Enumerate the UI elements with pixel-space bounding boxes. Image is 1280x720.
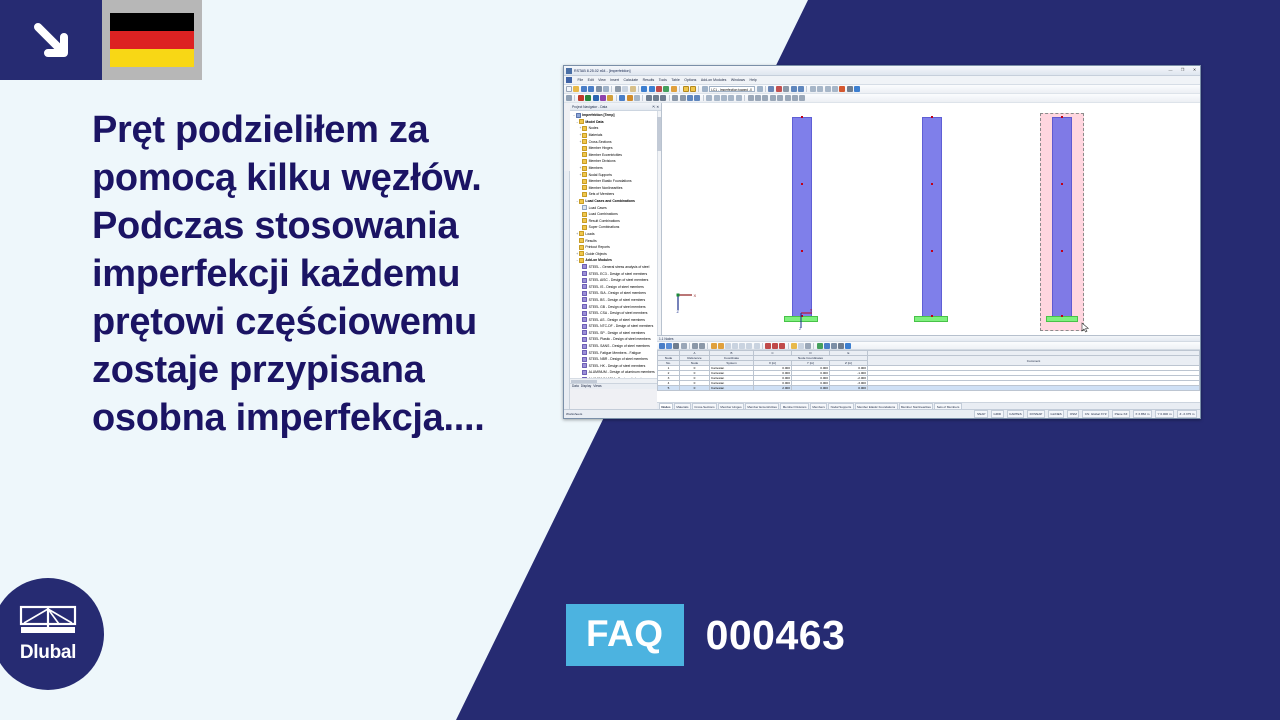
navigator-tree-label: STEEL EC3 - Design of steel members (589, 272, 648, 276)
close-button[interactable]: ✕ (1191, 67, 1198, 73)
navigator-tree-item[interactable]: +Loads (571, 231, 661, 238)
load-case-prev-icon[interactable] (702, 86, 708, 92)
tree-folder-icon (582, 179, 587, 184)
navigator-tree-item[interactable]: STEEL SANS - Design of steel members (571, 343, 661, 350)
menu-item-insert[interactable]: Insert (610, 78, 619, 82)
toolbar-separator (679, 86, 680, 92)
help-icon[interactable] (854, 86, 860, 92)
dlubal-bridge-icon (19, 605, 77, 639)
navigator-tree-label: Member Hinges (589, 146, 613, 150)
filter-icon[interactable] (770, 95, 776, 101)
navigator-tree-item[interactable]: Super Combinations (571, 224, 661, 231)
navigator-tree-label: Nodes (589, 126, 599, 130)
axis-triad-icon: X Z (676, 291, 698, 313)
dimension-icon[interactable] (680, 95, 686, 101)
window-title-bar[interactable]: RSTAB 8.25.02 x64 - [Imperfektion] — ❐ ✕ (564, 66, 1200, 76)
snap-icon[interactable] (687, 95, 693, 101)
navigator-tree-label: STEEL AS - Design of steel members (589, 318, 645, 322)
navigator-header: Project Navigator - Data ⇱ ✕ (570, 103, 661, 111)
table-font-icon[interactable] (673, 343, 679, 349)
status-bar: Worksheets SNAP GRID CARTES DXSNAP GLINE… (564, 409, 1200, 418)
node-marker (931, 250, 933, 252)
navigator-tree-item[interactable]: +Members (571, 165, 661, 172)
table-delete-row-icon[interactable] (699, 343, 705, 349)
toolbar-separator (765, 86, 766, 92)
tree-mod-icon (582, 264, 587, 269)
tree-folder-icon (582, 218, 587, 223)
navigator-tree-item[interactable]: STEEL CSA - Design of steel members (571, 310, 661, 317)
navigator-tree-item[interactable]: STEEL AISC - Design of steel members (571, 277, 661, 284)
navigator-tree-item[interactable]: STEEL Plastic - Design of steel members (571, 336, 661, 343)
view-top-icon[interactable] (817, 86, 823, 92)
navigator-tab-data[interactable]: Data (572, 384, 579, 388)
mouse-cursor-icon (1081, 322, 1090, 333)
navigator-tree-item[interactable]: STEEL NBR - Design of steel members (571, 356, 661, 363)
surface-insert-icon[interactable] (600, 95, 606, 101)
toolbar-primary[interactable]: LC1 - Imperfection toward -X (564, 85, 1200, 94)
cell-node-no[interactable]: 5 (658, 386, 680, 391)
toolbar-separator (813, 343, 814, 349)
navigator-title: Project Navigator - Data (572, 103, 607, 110)
table-filter-icon[interactable] (805, 343, 811, 349)
navigator-tree-item[interactable]: STEEL - General stress analysis of steel (571, 264, 661, 271)
member-insert-icon[interactable] (593, 95, 599, 101)
top-left-badge (0, 0, 202, 80)
navigator-tree-label: STEEL SP - Design of steel members (589, 331, 646, 335)
navigator-tree-item[interactable]: -Model Data (571, 119, 661, 126)
faq-number: 000463 (706, 613, 846, 657)
column-1-member[interactable] (792, 117, 812, 317)
navigator-tab-views[interactable]: Views (593, 384, 601, 388)
page-title: Pręt podzieliłem za pomocą kilku węzłów.… (92, 106, 562, 442)
navigator-tree-item[interactable]: Load Cases (571, 204, 661, 211)
faq-badge: FAQ (566, 604, 684, 666)
navigator-tree-label: STEEL IS - Design of steel members (589, 285, 644, 289)
svg-text:Z: Z (799, 327, 802, 330)
hinge-insert-icon[interactable] (627, 95, 633, 101)
grid-icon[interactable] (690, 86, 696, 92)
menu-item-options[interactable]: Options (684, 78, 696, 82)
tree-folder-icon (582, 126, 587, 131)
navigator-tree-label: Results (585, 239, 596, 243)
navigator-scroll-thumb[interactable] (657, 117, 661, 151)
status-plane: Plane XZ (1112, 410, 1130, 418)
toolbar-secondary[interactable] (564, 94, 1200, 103)
menu-app-icon (566, 77, 572, 83)
lock-icon[interactable] (799, 95, 805, 101)
copy-icon[interactable] (622, 86, 628, 92)
app-icon (566, 68, 572, 74)
toolbar-separator (744, 95, 745, 101)
toolbar-separator (698, 86, 699, 92)
status-y: Y 0.000 m (1155, 410, 1174, 418)
status-glines[interactable]: GLINES (1048, 410, 1064, 418)
table-list-icon[interactable] (798, 343, 804, 349)
status-cartes[interactable]: CARTES (1007, 410, 1025, 418)
table-toolbar[interactable] (657, 342, 1200, 350)
navigator-tree-item[interactable]: STEEL IS - Design of steel members (571, 283, 661, 290)
navigator-tree-label: Sets of Members (589, 192, 615, 196)
toolbar-separator (788, 343, 789, 349)
navigator-tree-item[interactable]: STEEL AS - Design of steel members (571, 316, 661, 323)
window-controls[interactable]: — ❐ ✕ (1167, 67, 1198, 73)
navigator-tree-item[interactable]: STEEL BS - Design of steel members (571, 297, 661, 304)
navigator-tree-label: STEEL AISC - Design of steel members (589, 278, 649, 282)
node-insert-icon[interactable] (578, 95, 584, 101)
navigator-tree-item[interactable]: +Materials (571, 132, 661, 139)
navigator-tree-label: Member Eccentricities (589, 153, 622, 157)
navigator-tree-item[interactable]: STEEL GB - Design of steel members (571, 303, 661, 310)
table-paste-icon[interactable] (732, 343, 738, 349)
display-numbers-icon[interactable] (736, 95, 742, 101)
navigator-tree-label: STEEL Plastic - Design of steel members (589, 337, 651, 341)
render-icon[interactable] (671, 86, 677, 92)
column-2-member[interactable] (922, 117, 942, 317)
cell-x[interactable]: 2.000 (754, 386, 792, 391)
zoom-window-icon[interactable] (798, 86, 804, 92)
menu-item-results[interactable]: Results (643, 78, 655, 82)
cell-coordinate-system[interactable]: Cartesian (710, 386, 754, 391)
tree-folder-icon (582, 159, 587, 164)
tree-folder-icon (582, 225, 587, 230)
navigator-tree-item[interactable]: Printout Reports (571, 244, 661, 251)
view-side-icon[interactable] (825, 86, 831, 92)
tree-folder-icon (579, 251, 584, 256)
table-print-icon[interactable] (831, 343, 837, 349)
maximize-button[interactable]: ❐ (1179, 67, 1186, 73)
tree-mod-icon (582, 337, 587, 342)
tree-folder-icon (582, 133, 587, 138)
calculate-icon[interactable] (656, 86, 662, 92)
navigator-tree-item[interactable]: STEEL SIA - Design of steel members (571, 290, 661, 297)
status-grid[interactable]: GRID (991, 410, 1004, 418)
tree-mod-icon (582, 311, 587, 316)
navigator-tree-label: Guide Objects (585, 252, 607, 256)
table-delete-icon[interactable] (754, 343, 760, 349)
view-iso-icon[interactable] (832, 86, 838, 92)
redo-icon[interactable] (649, 86, 655, 92)
section-icon[interactable] (755, 95, 761, 101)
node-marker (801, 250, 803, 252)
faq-footer: FAQ 000463 (566, 604, 845, 666)
navigator-tree-item[interactable]: STEEL HK - Design of steel members (571, 363, 661, 370)
table-tabs[interactable]: NodesMaterialsCross-SectionsMember Hinge… (657, 402, 1200, 409)
column-2-support[interactable] (914, 316, 948, 322)
navigator-tree-label: STEEL - General stress analysis of steel (589, 265, 650, 269)
colors-icon[interactable] (839, 86, 845, 92)
navigator-tree-label: Printout Reports (585, 245, 610, 249)
navigator-tree-label: STEEL BS - Design of steel members (589, 298, 646, 302)
display-supports-icon[interactable] (721, 95, 727, 101)
rstab-application-window[interactable]: RSTAB 8.25.02 x64 - [Imperfektion] — ❐ ✕… (563, 65, 1201, 419)
tree-mod-icon (582, 291, 587, 296)
table-icon[interactable] (683, 86, 689, 92)
eccentricity-icon[interactable] (634, 95, 640, 101)
view-front-icon[interactable] (810, 86, 816, 92)
results-icon[interactable] (663, 86, 669, 92)
tree-mod-icon (582, 330, 587, 335)
table-undo-icon[interactable] (711, 343, 717, 349)
menu-item-view[interactable]: View (598, 78, 606, 82)
table-panel[interactable]: 1.1 Nodes (657, 335, 1200, 402)
navigator-tree-item[interactable]: +Cross-Sections (571, 138, 661, 145)
undo-icon[interactable] (641, 86, 647, 92)
display-loads-icon[interactable] (728, 95, 734, 101)
navigator-tree-label: STEEL SIA - Design of steel members (589, 291, 646, 295)
navigator-tree-label: Cross-Sections (589, 140, 612, 144)
menu-item-calculate[interactable]: Calculate (623, 78, 638, 82)
save-all-icon[interactable] (588, 86, 594, 92)
tree-folder-icon (579, 258, 584, 263)
status-cells[interactable]: SNAP GRID CARTES DXSNAP GLINES OSM CS: G… (974, 410, 1200, 418)
project-navigator[interactable]: Project Navigator - Data ⇱ ✕ -Imperfekti… (570, 103, 662, 389)
navigator-header-buttons[interactable]: ⇱ ✕ (653, 103, 659, 110)
node-marker (1061, 250, 1063, 252)
table-export-icon[interactable] (824, 343, 830, 349)
toolbar-separator (642, 95, 643, 101)
tree-folder-icon (582, 185, 587, 190)
navigator-tree-label: STEEL NBR - Design of steel members (589, 357, 648, 361)
navigator-tabs[interactable]: Data Display Views (570, 383, 661, 389)
measure-icon[interactable] (672, 95, 678, 101)
toolbar-separator (574, 95, 575, 101)
tree-mod-icon (582, 370, 587, 375)
menu-item-file[interactable]: File (578, 78, 584, 82)
navigator-tree-label: STEEL Fatigue Members - Fatigue (589, 351, 641, 355)
status-dxsnap[interactable]: DXSNAP (1027, 410, 1045, 418)
navigator-tree-label: STEEL GB - Design of steel members (589, 305, 646, 309)
node-marker (1061, 116, 1063, 118)
navigator-tree-item[interactable]: STEEL SP - Design of steel members (571, 330, 661, 337)
navigator-tree-item[interactable]: -Add-on Modules (571, 257, 661, 264)
menu-item-tools[interactable]: Tools (659, 78, 667, 82)
supports-icon[interactable] (768, 86, 774, 92)
paste-icon[interactable] (630, 86, 636, 92)
tree-mod-icon (582, 324, 587, 329)
node-marker (1061, 183, 1063, 185)
table-calc-icon[interactable] (817, 343, 823, 349)
table-edit-icon[interactable] (666, 343, 672, 349)
status-x: X 3.852 m (1133, 410, 1152, 418)
navigator-tree-label: Materials (589, 133, 603, 137)
table-formula-icon[interactable] (838, 343, 844, 349)
navigator-tree-item[interactable]: Sets of Members (571, 191, 661, 198)
rotate-icon[interactable] (653, 95, 659, 101)
select-arrow-icon[interactable] (566, 95, 572, 101)
node-marker (931, 315, 933, 317)
tree-folder-icon (582, 212, 587, 217)
tree-folder-icon (579, 199, 584, 204)
cell-reference-node[interactable]: 0 (680, 386, 710, 391)
solid-insert-icon[interactable] (607, 95, 613, 101)
tree-folder-icon (582, 166, 587, 171)
layer-icon[interactable] (785, 95, 791, 101)
clipping-icon[interactable] (762, 95, 768, 101)
navigator-tree-label: Imperfektion [Temp] (582, 113, 614, 117)
tree-mod-icon (582, 350, 587, 355)
tree-mod-icon (582, 363, 587, 368)
display-members-icon[interactable] (714, 95, 720, 101)
header-comment: Comment (868, 356, 1200, 366)
navigator-tree-label: Load Combinations (589, 212, 618, 216)
navigator-tree-item[interactable]: -Load Cases and Combinations (571, 198, 661, 205)
tree-mod-icon (582, 271, 587, 276)
load-case-selector[interactable]: LC1 - Imperfection toward -X (709, 86, 755, 92)
node-marker (931, 183, 933, 185)
navigator-tree-label: STEEL HK - Design of steel members (589, 364, 646, 368)
print-preview-icon[interactable] (603, 86, 609, 92)
nodes-table-body[interactable]: 10Cartesian0.0000.0000.00020Cartesian0.0… (658, 366, 1200, 391)
open-file-icon[interactable] (573, 86, 579, 92)
cell-z[interactable]: 0.000 (830, 386, 868, 391)
navigator-tree-item[interactable]: +Nodes (571, 125, 661, 132)
table-align-icon[interactable] (681, 343, 687, 349)
navigator-tree-item[interactable]: -Imperfektion [Temp] (571, 112, 661, 119)
menu-item-addon-modules[interactable]: Add-on Modules (701, 78, 727, 82)
navigator-tree-item[interactable]: Result Combinations (571, 218, 661, 225)
menu-item-edit[interactable]: Edit (588, 78, 594, 82)
tree-mod-icon (582, 357, 587, 362)
node-marker (931, 116, 933, 118)
save-icon[interactable] (581, 86, 587, 92)
local-axis-icon: X Z (791, 306, 813, 330)
navigator-tree-item[interactable]: Member Elastic Foundations (571, 178, 661, 185)
display-nodes-icon[interactable] (706, 95, 712, 101)
navigator-tree-item[interactable]: STEEL EC3 - Design of steel members (571, 270, 661, 277)
toolbar-separator (806, 86, 807, 92)
navigator-tree-label: Result Combinations (589, 219, 620, 223)
tree-mod-icon (582, 304, 587, 309)
node-marker (801, 116, 803, 118)
toolbar-separator (638, 86, 639, 92)
node-marker (801, 183, 803, 185)
navigator-tree-label: Member Nonlinearities (589, 186, 623, 190)
tree-folder-icon (582, 146, 587, 151)
navigator-tree-label: STEEL SANS - Design of steel members (589, 344, 650, 348)
navigator-tree-label: Nodal Supports (589, 173, 612, 177)
table-copy-icon[interactable] (725, 343, 731, 349)
navigator-hscrollbar[interactable] (570, 378, 661, 382)
navigator-tree[interactable]: -Imperfektion [Temp]-Model Data+Nodes+Ma… (570, 111, 661, 378)
zoom-all-icon[interactable] (791, 86, 797, 92)
line-insert-icon[interactable] (585, 95, 591, 101)
loads-icon[interactable] (776, 86, 782, 92)
navigator-tree-item[interactable]: STEEL Fatigue Members - Fatigue (571, 349, 661, 356)
new-file-icon[interactable] (566, 86, 572, 92)
column-3-member[interactable] (1052, 117, 1072, 317)
navigator-tree-item[interactable]: +Nodal Supports (571, 171, 661, 178)
tree-folder-icon (579, 238, 584, 243)
tree-folder-icon (582, 192, 587, 197)
navigator-tree-label: Loads (585, 232, 594, 236)
print-icon[interactable] (596, 86, 602, 92)
group-icon[interactable] (777, 95, 783, 101)
toolbar-separator (689, 343, 690, 349)
tree-folder-icon (582, 152, 587, 157)
settings-icon[interactable] (847, 86, 853, 92)
table-first-icon[interactable] (765, 343, 771, 349)
navigator-tree-item[interactable]: +Guide Objects (571, 250, 661, 257)
navigator-tab-display[interactable]: Display (581, 384, 591, 388)
cell-y[interactable]: 0.000 (792, 386, 830, 391)
menu-bar[interactable]: File Edit View Insert Calculate Results … (564, 76, 1200, 85)
nodes-table[interactable]: A B C D E Node Reference Coordinate Node… (657, 350, 1200, 391)
navigator-tree-item[interactable]: Member Hinges (571, 145, 661, 152)
numbering-icon[interactable] (783, 86, 789, 92)
table-view-icon[interactable] (791, 343, 797, 349)
navigator-tree-item[interactable]: ALUMINUM - Design of aluminum members (571, 369, 661, 376)
tree-folder-icon (582, 172, 587, 177)
status-osm[interactable]: OSM (1067, 410, 1079, 418)
table-prev-icon[interactable] (772, 343, 778, 349)
tree-root-icon (576, 113, 581, 118)
navigator-tree-item[interactable]: Results (571, 237, 661, 244)
ungroup-icon[interactable] (792, 95, 798, 101)
cell-comment[interactable] (868, 386, 1200, 391)
column-3-support[interactable] (1046, 316, 1078, 322)
toolbar-separator (762, 343, 763, 349)
navigator-tree-item[interactable]: Load Combinations (571, 211, 661, 218)
tree-folder-icon (582, 139, 587, 144)
navigator-tree-item[interactable]: Member Divisions (571, 158, 661, 165)
table-new-row-icon[interactable] (659, 343, 665, 349)
load-case-next-icon[interactable] (757, 86, 763, 92)
navigator-tree-label: Member Elastic Foundations (589, 179, 632, 183)
visibility-icon[interactable] (748, 95, 754, 101)
navigator-tree-item[interactable]: Member Nonlinearities (571, 185, 661, 192)
toolbar-separator (707, 343, 708, 349)
navigator-tree-label: ALUMINUM - Design of aluminum members (589, 370, 655, 374)
table-row[interactable]: 50Cartesian2.0000.0000.000 (658, 386, 1200, 391)
menu-item-table[interactable]: Table (671, 78, 679, 82)
table-help-icon[interactable] (845, 343, 851, 349)
status-snap[interactable]: SNAP (974, 410, 987, 418)
navigator-tree-label: Model Data (585, 120, 603, 124)
svg-text:X: X (694, 293, 697, 298)
move-icon[interactable] (646, 95, 652, 101)
menu-item-help[interactable]: Help (750, 78, 757, 82)
menu-item-windows[interactable]: Windows (731, 78, 745, 82)
navigator-tree-label: Member Divisions (589, 159, 616, 163)
navigator-tree-item[interactable]: Member Eccentricities (571, 152, 661, 159)
grid-toggle-icon[interactable] (694, 95, 700, 101)
toolbar-separator (669, 95, 670, 101)
table-next-icon[interactable] (779, 343, 785, 349)
minimize-button[interactable]: — (1167, 67, 1174, 73)
table-clear-icon[interactable] (746, 343, 752, 349)
tree-mod-icon (582, 284, 587, 289)
table-redo-icon[interactable] (718, 343, 724, 349)
tree-folder-icon (579, 119, 584, 124)
navigator-hscroll-thumb[interactable] (571, 380, 597, 383)
toolbar-separator (611, 86, 612, 92)
table-cut-icon[interactable] (739, 343, 745, 349)
table-insert-row-icon[interactable] (692, 343, 698, 349)
navigator-tree-label: STEEL CSA - Design of steel members (589, 311, 648, 315)
support-insert-icon[interactable] (619, 95, 625, 101)
nodes-grid[interactable]: A B C D E Node Reference Coordinate Node… (657, 350, 1200, 402)
cut-icon[interactable] (615, 86, 621, 92)
navigator-tree-label: Members (589, 166, 603, 170)
tree-mod-icon (582, 344, 587, 349)
mirror-icon[interactable] (660, 95, 666, 101)
arrow-down-right-icon (0, 0, 102, 80)
toolbar-separator (703, 95, 704, 101)
toolbar-separator (616, 95, 617, 101)
tree-doc-icon (582, 205, 587, 210)
header-top-row: Node Reference Coordinate Node Coordinat… (658, 356, 1200, 361)
navigator-tree-item[interactable]: STEEL NTC-DF - Design of steel members (571, 323, 661, 330)
